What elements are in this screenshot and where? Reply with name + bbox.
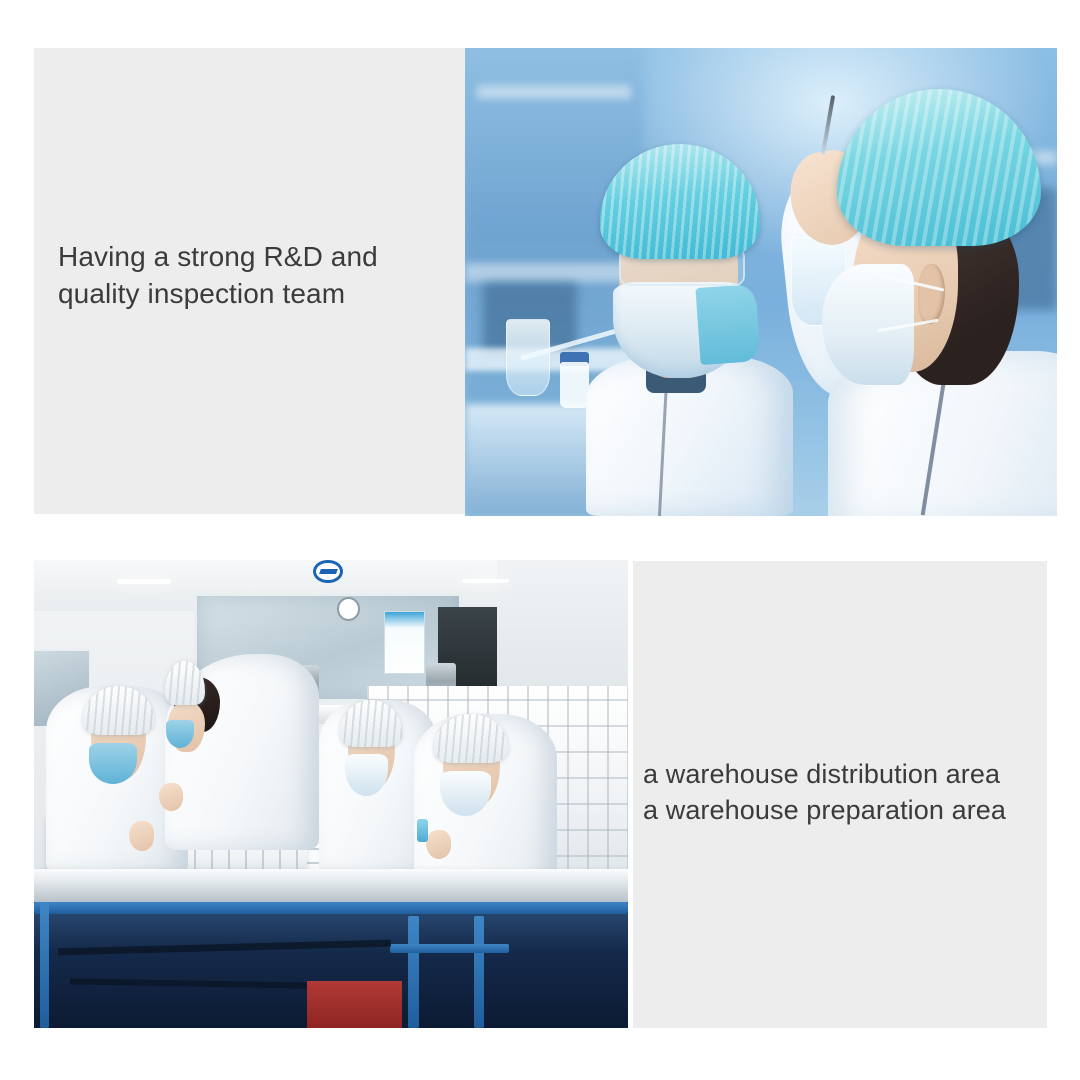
warehouse-worker-2 — [165, 654, 319, 851]
top-caption: Having a strong R&D and quality inspecti… — [58, 238, 458, 312]
lab-shelf-upper — [477, 85, 631, 99]
worker-4-blue-item — [417, 819, 428, 841]
lab-inspection-photo — [465, 48, 1057, 516]
wall-clock-icon — [337, 597, 360, 621]
worker-1-hand — [129, 821, 155, 851]
lab-worker-right — [773, 81, 1057, 516]
ceiling-light-1 — [117, 579, 170, 585]
worker-2-hairnet — [165, 661, 205, 704]
table-frame-rail-lower — [390, 944, 509, 953]
top-text-panel: Having a strong R&D and quality inspecti… — [34, 48, 466, 514]
table-frame-leg-mid — [408, 916, 419, 1028]
table-frame-leg-left — [40, 902, 50, 1028]
warehouse-packing-photo — [34, 560, 628, 1028]
lab-worker-right-hairnet — [837, 89, 1040, 246]
lab-worker-left-hairnet — [600, 144, 761, 259]
warehouse-scene — [34, 560, 628, 1028]
worker-2-hand — [159, 783, 184, 811]
red-cart — [307, 981, 402, 1028]
table-frame-rail-top — [34, 902, 628, 914]
table-frame-leg-right — [474, 916, 485, 1028]
warehouse-notice-board — [384, 611, 425, 674]
warehouse-wall-sign-icon — [313, 560, 343, 583]
worker-4-hand — [426, 830, 452, 858]
ceiling-light-4 — [462, 579, 510, 584]
bottom-text-panel: a warehouse distribution area a warehous… — [633, 561, 1047, 1028]
bottom-caption: a warehouse distribution area a warehous… — [643, 757, 1047, 829]
top-section: Having a strong R&D and quality inspecti… — [0, 0, 1080, 520]
lab-worker-left-mask-side — [695, 284, 760, 365]
poster-root: Having a strong R&D and quality inspecti… — [0, 0, 1080, 1080]
lab-scene — [465, 48, 1057, 516]
bottom-section: a warehouse distribution area a warehous… — [0, 558, 1080, 1030]
